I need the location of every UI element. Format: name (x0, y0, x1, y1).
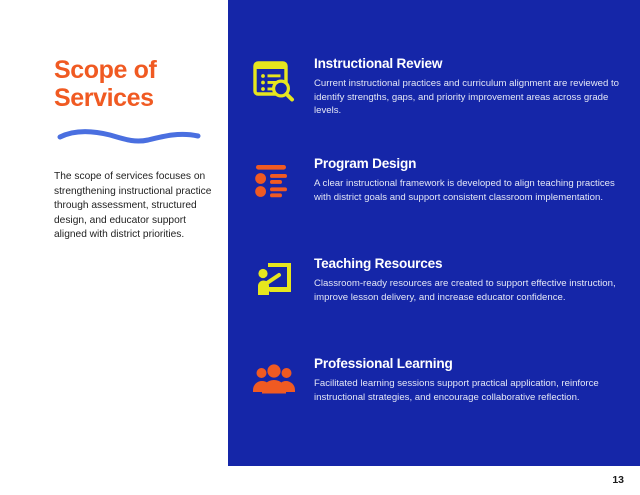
document-search-icon (252, 59, 296, 103)
service-heading: Teaching Resources (314, 256, 622, 272)
page-number: 13 (612, 474, 624, 486)
service-item-instructional-review: Instructional Review Current instruction… (252, 56, 622, 142)
intro-paragraph: The scope of services focuses on strengt… (54, 170, 212, 243)
services-list: Instructional Review Current instruction… (252, 56, 622, 442)
page-title: Scope ofServices (54, 56, 214, 112)
service-body: Current instructional practices and curr… (314, 77, 622, 118)
service-item-program-design: Program Design A clear instructional fra… (252, 156, 622, 242)
page-title-line-1: Scope of (54, 56, 156, 84)
service-body: A clear instructional framework is devel… (314, 177, 622, 204)
page-title-line-2: Services (54, 84, 154, 112)
teacher-presenting-icon (252, 259, 296, 303)
bulleted-list-icon (252, 159, 296, 203)
service-body: Classroom-ready resources are created to… (314, 277, 622, 304)
service-heading: Program Design (314, 156, 622, 172)
service-heading: Instructional Review (314, 56, 622, 72)
service-item-teaching-resources: Teaching Resources Classroom-ready resou… (252, 256, 622, 342)
people-group-icon (252, 359, 296, 403)
service-item-professional-learning: Professional Learning Facilitated learni… (252, 356, 622, 442)
slide-canvas: Scope ofServices The scope of services f… (0, 0, 640, 495)
service-heading: Professional Learning (314, 356, 622, 372)
wavy-underline-icon (54, 126, 204, 148)
service-body: Facilitated learning sessions support pr… (314, 377, 622, 404)
left-column: Scope ofServices The scope of services f… (54, 56, 214, 253)
